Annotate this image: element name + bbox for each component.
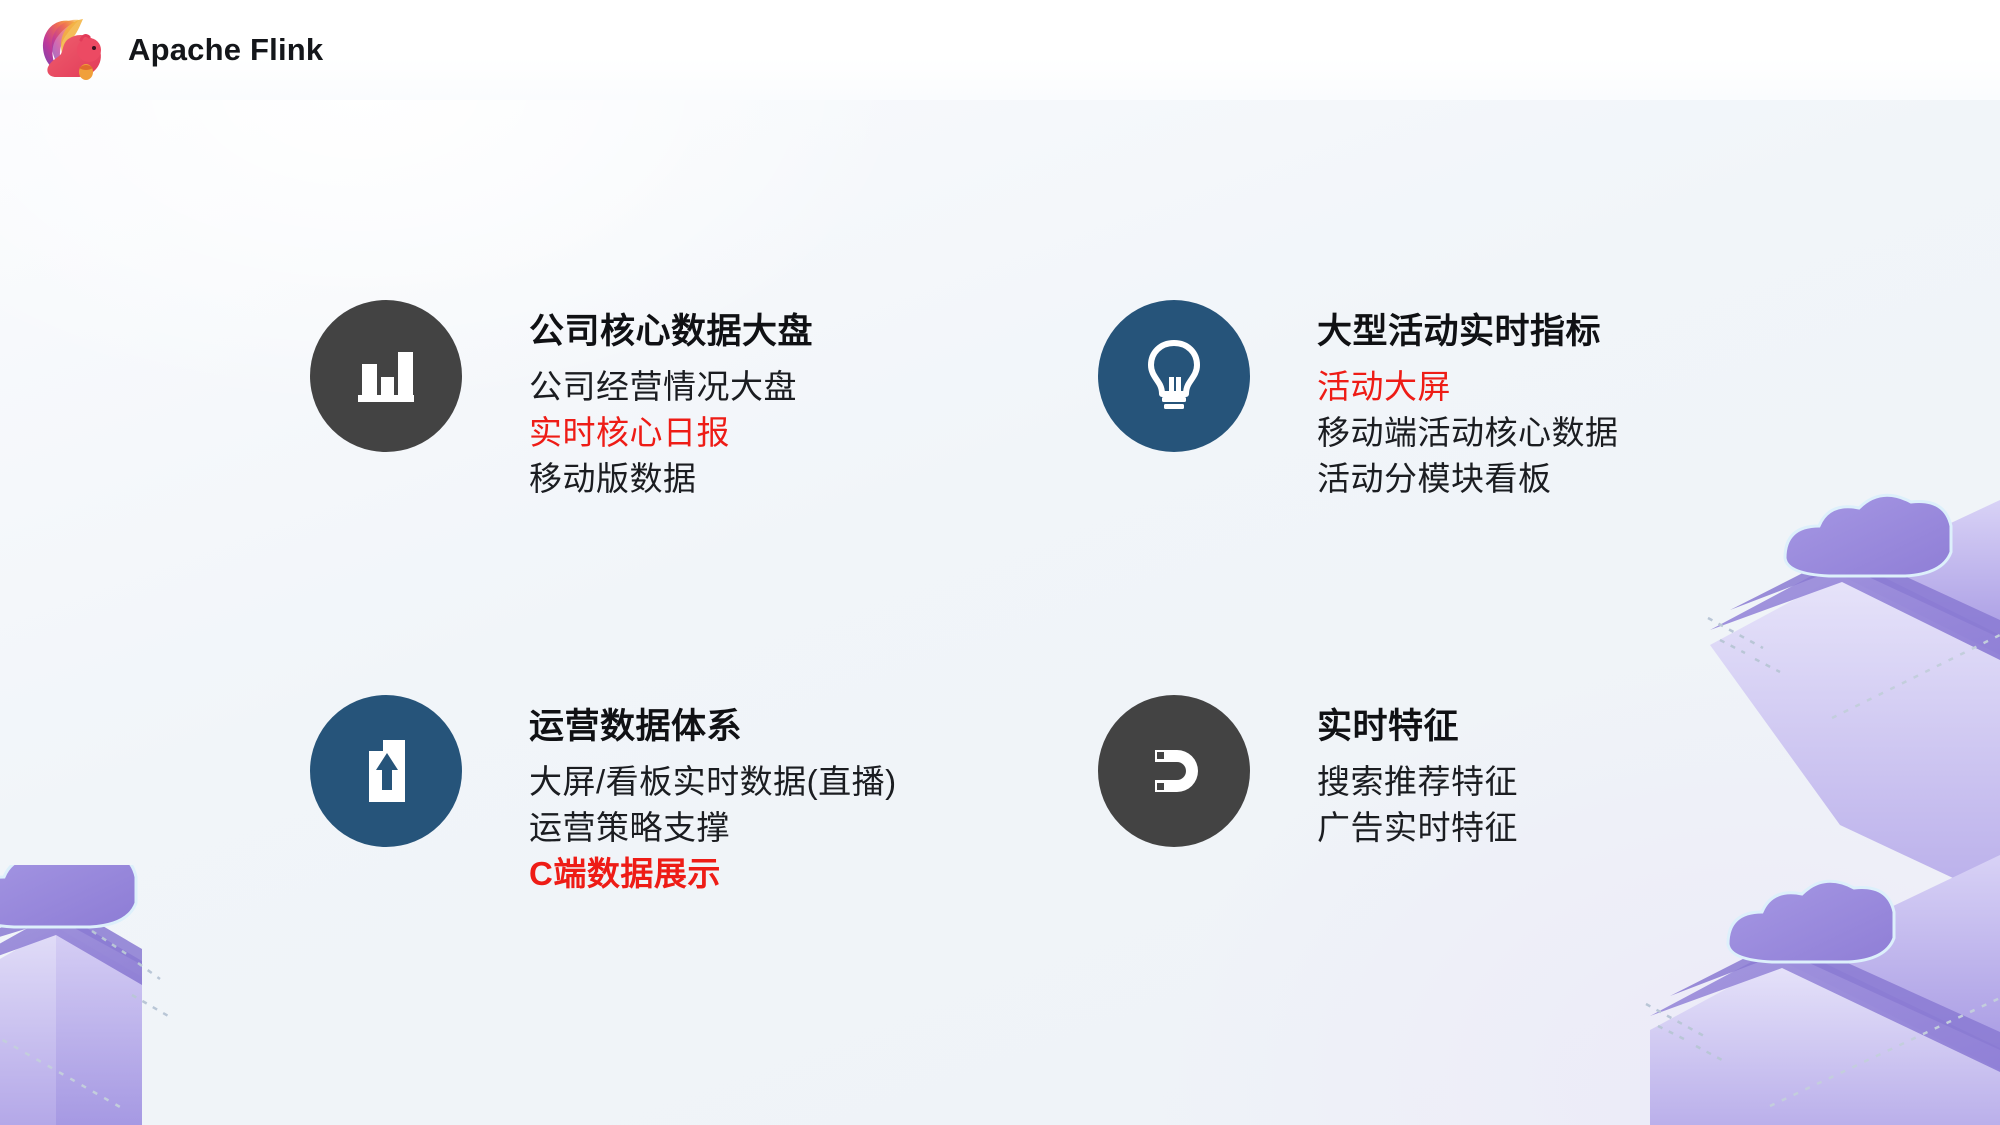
feature-line: 公司经营情况大盘 (529, 364, 813, 410)
feature-title: 实时特征 (1317, 705, 1518, 750)
feature-line: 移动版数据 (529, 456, 813, 502)
feature-item-realtime-features: 实时特征 搜索推荐特征 广告实时特征 (1098, 695, 1518, 851)
feature-texts: 实时特征 搜索推荐特征 广告实时特征 (1317, 695, 1518, 851)
feature-title: 运营数据体系 (529, 705, 897, 750)
badge-circle-lightbulb (1098, 300, 1250, 452)
feature-line: 实时核心日报 (529, 410, 813, 456)
badge-circle-magnet (1098, 695, 1250, 847)
feature-line: C端数据展示 (529, 851, 897, 897)
feature-texts: 大型活动实时指标 活动大屏 移动端活动核心数据 活动分模块看板 (1317, 300, 1619, 501)
slide-canvas: Apache Flink 公司核心数据大盘 公司经营情况大盘 实时核心日报 移动… (0, 0, 2000, 1125)
magnet-icon (1141, 738, 1207, 804)
app-title: Apache Flink (128, 32, 323, 68)
feature-line: 广告实时特征 (1317, 805, 1518, 851)
feature-title: 公司核心数据大盘 (529, 310, 813, 355)
flink-squirrel-logo-icon (34, 14, 112, 86)
feature-item-company-core-dashboard: 公司核心数据大盘 公司经营情况大盘 实时核心日报 移动版数据 (310, 300, 813, 501)
feature-line: 运营策略支撑 (529, 805, 897, 851)
badge-circle-bar-chart (310, 300, 462, 452)
content-area: 公司核心数据大盘 公司经营情况大盘 实时核心日报 移动版数据 大型活动实时指标 … (0, 100, 2000, 1125)
feature-line: 大屏/看板实时数据(直播) (529, 759, 897, 805)
bar-chart-icon (350, 345, 422, 407)
feature-line: 移动端活动核心数据 (1317, 410, 1619, 456)
feature-title: 大型活动实时指标 (1317, 310, 1619, 355)
feature-line: 搜索推荐特征 (1317, 759, 1518, 805)
badge-circle-document-upload (310, 695, 462, 847)
header-bar: Apache Flink (0, 0, 2000, 100)
feature-line: 活动大屏 (1317, 364, 1619, 410)
lightbulb-icon (1143, 337, 1205, 415)
feature-texts: 运营数据体系 大屏/看板实时数据(直播) 运营策略支撑 C端数据展示 (529, 695, 897, 896)
feature-item-large-campaign-realtime-metrics: 大型活动实时指标 活动大屏 移动端活动核心数据 活动分模块看板 (1098, 300, 1619, 501)
document-upload-icon (355, 735, 417, 807)
feature-line: 活动分模块看板 (1317, 456, 1619, 502)
feature-texts: 公司核心数据大盘 公司经营情况大盘 实时核心日报 移动版数据 (529, 300, 813, 501)
feature-item-operations-data-system: 运营数据体系 大屏/看板实时数据(直播) 运营策略支撑 C端数据展示 (310, 695, 897, 896)
